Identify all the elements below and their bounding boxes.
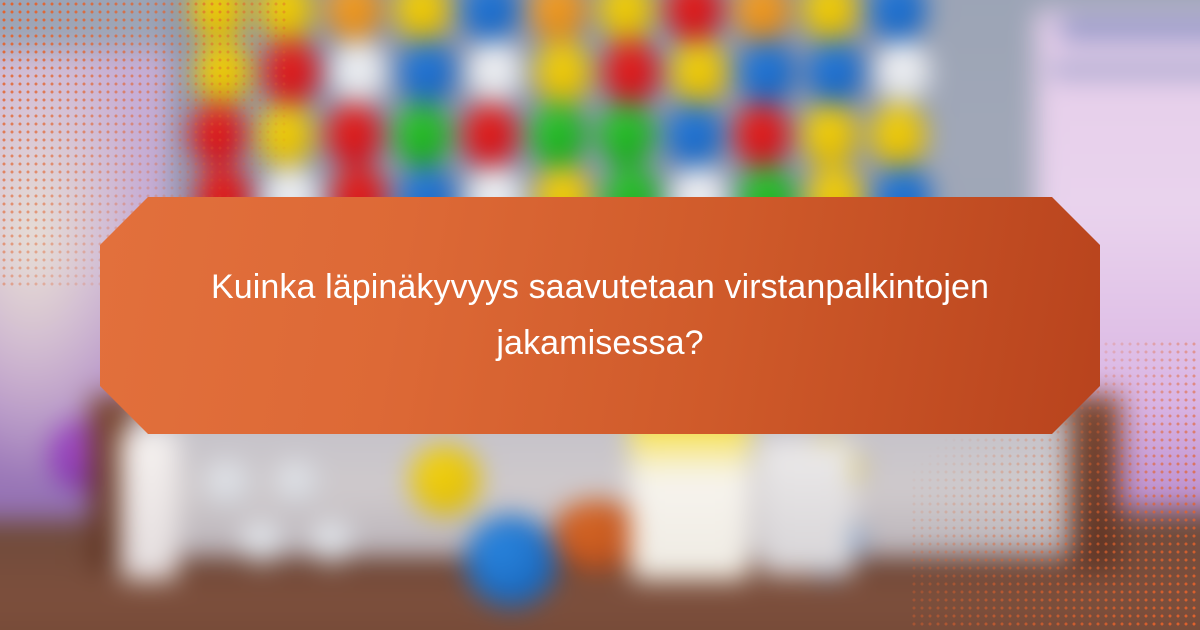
scattered-piece — [630, 410, 750, 580]
headline-text: Kuinka läpinäkyvyys saavutetaan virstanp… — [170, 260, 1030, 370]
scattered-piece — [760, 440, 855, 575]
scattered-piece — [275, 460, 319, 504]
scattered-piece — [240, 520, 284, 564]
headline-banner: Kuinka läpinäkyvyys saavutetaan virstanp… — [100, 197, 1100, 434]
scattered-piece — [310, 520, 354, 564]
social-share-card: Kuinka läpinäkyvyys saavutetaan virstanp… — [0, 0, 1200, 630]
scattered-piece — [552, 500, 642, 570]
scattered-piece — [205, 460, 251, 506]
scattered-piece — [465, 515, 557, 607]
scattered-piece — [410, 445, 480, 515]
scattered-piece — [120, 430, 178, 580]
